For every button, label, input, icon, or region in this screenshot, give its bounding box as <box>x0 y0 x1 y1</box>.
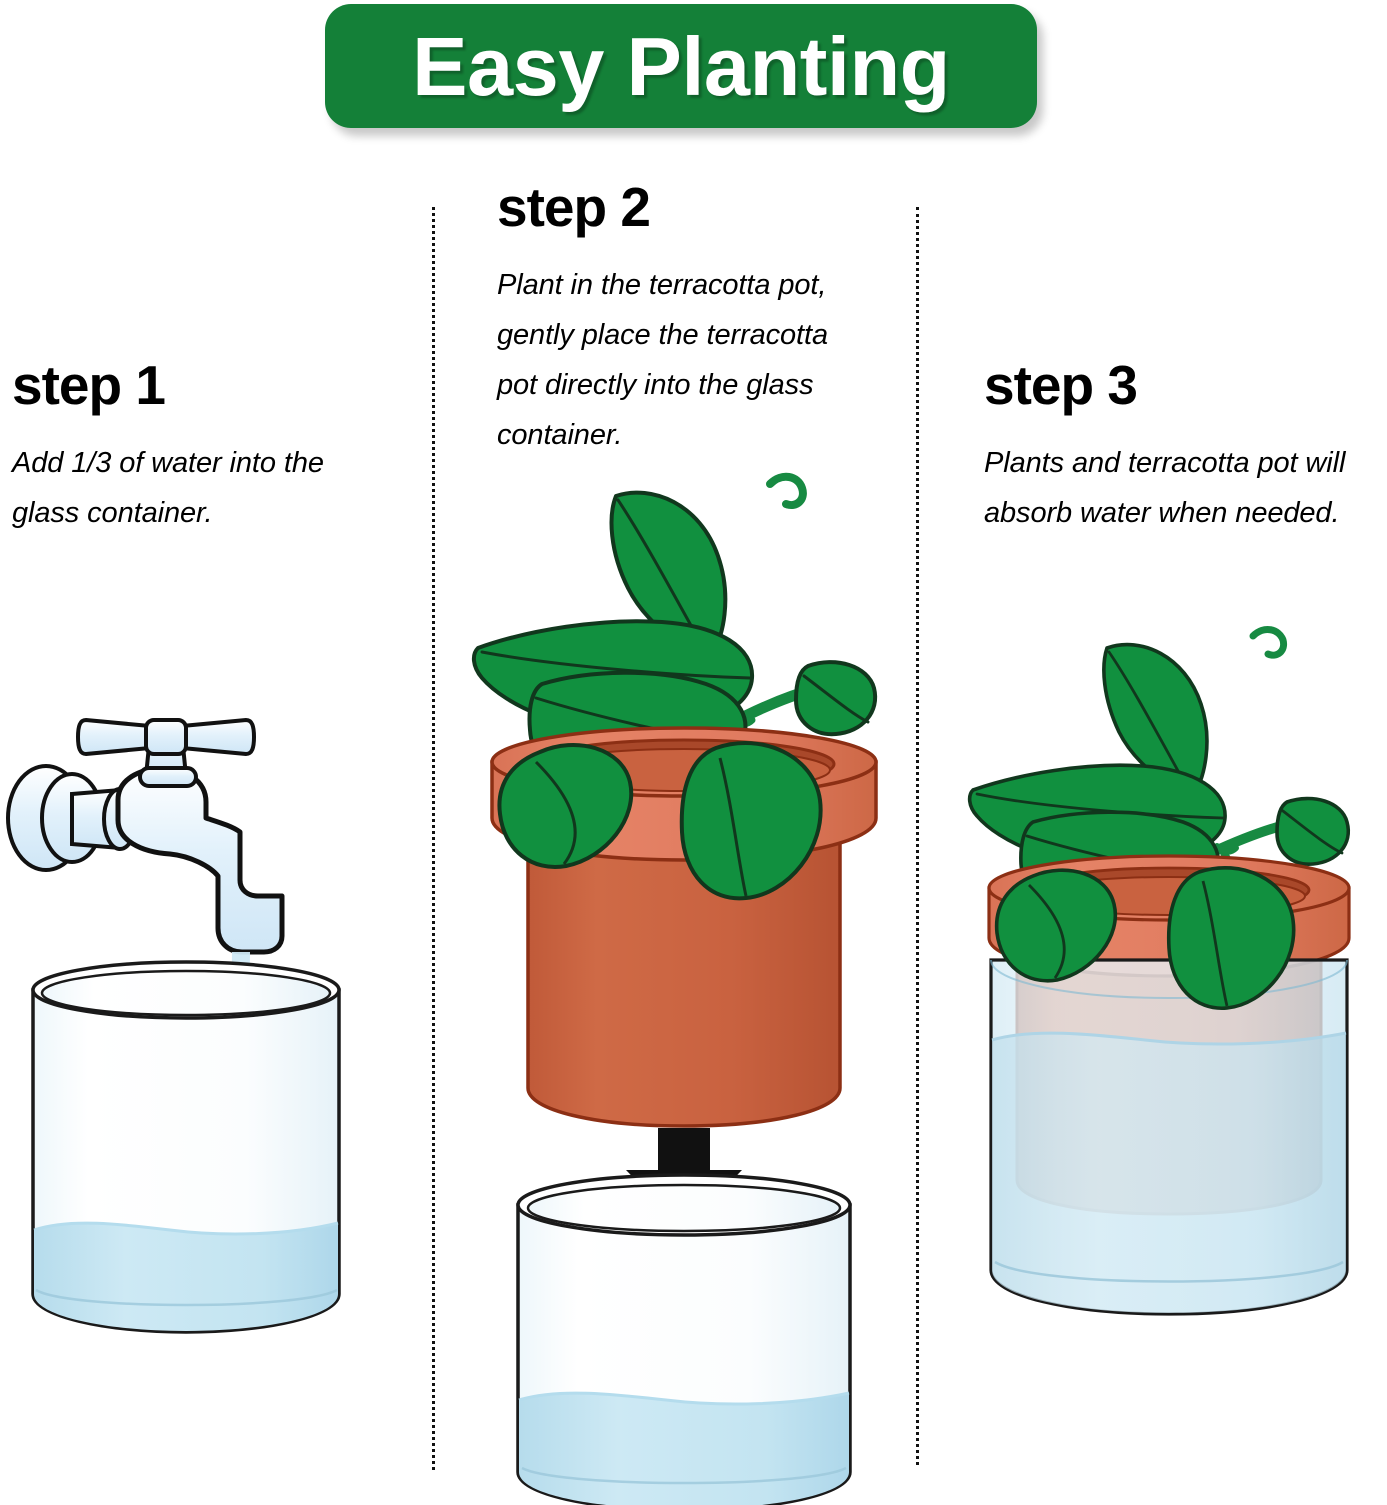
glass-container <box>33 962 339 1332</box>
column-divider-2 <box>916 207 919 1465</box>
plant-leaves-foreground <box>997 868 1294 1008</box>
water-body <box>992 1033 1346 1313</box>
column-divider-1 <box>432 207 435 1470</box>
plant-leaves <box>474 477 875 910</box>
step-2-description: Plant in the terracotta pot, gently plac… <box>497 261 857 461</box>
step-3-title: step 3 <box>984 358 1384 413</box>
water-body <box>519 1393 849 1505</box>
glass-container <box>518 1175 850 1505</box>
plant-leaves-foreground <box>499 743 820 898</box>
step-1-description: Add 1/3 of water into the glass containe… <box>12 439 362 539</box>
page-title: Easy Planting <box>412 25 950 108</box>
step-1-title: step 1 <box>12 358 412 413</box>
step-2-column: step 2 Plant in the terracotta pot, gent… <box>497 180 897 461</box>
terracotta-pot <box>989 856 1349 1214</box>
step-2-illustration <box>470 470 900 1505</box>
step-3-description: Plants and terracotta pot will absorb wa… <box>984 439 1349 539</box>
terracotta-pot <box>492 728 876 1126</box>
down-arrow-icon <box>626 1128 742 1230</box>
step-2-title: step 2 <box>497 180 897 235</box>
step-1-illustration <box>0 690 400 1350</box>
step-1-column: step 1 Add 1/3 of water into the glass c… <box>12 358 412 539</box>
faucet-icon <box>8 720 282 952</box>
water-body <box>34 1223 338 1331</box>
plant-leaves <box>970 629 1349 992</box>
header-banner: Easy Planting <box>325 4 1037 128</box>
glass-container <box>991 960 1347 1314</box>
step-3-illustration <box>955 620 1385 1360</box>
step-3-column: step 3 Plants and terracotta pot will ab… <box>984 358 1384 539</box>
water-stream <box>210 952 250 1266</box>
